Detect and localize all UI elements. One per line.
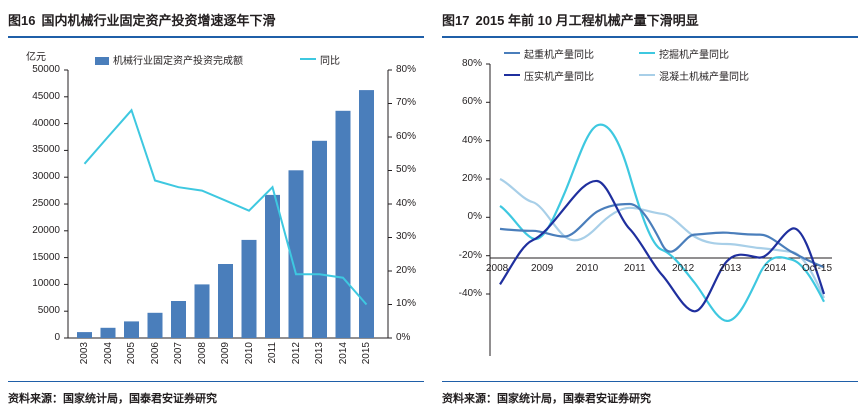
figure-16-plot: 0 5000 10000 15000 20000 25000 30000 350… — [0, 60, 434, 360]
figure-17-xtick-2012: 2012 — [672, 263, 694, 274]
figure-17-panel: 图172015 年前 10 月工程机械产量下滑明显 起重机产量同比 挖掘机产量同… — [434, 0, 868, 418]
figure-17-ytick-neg20: -20% — [444, 250, 482, 261]
legend-line-excavator — [639, 52, 655, 54]
figure-17-source-rule — [442, 381, 858, 382]
figure-16-ytick-10: 50000 — [18, 64, 60, 75]
figure-16-title-text: 国内机械行业固定资产投资增速逐年下滑 — [41, 10, 275, 29]
figure-17-ytick-0: 0% — [444, 211, 482, 222]
figure-16-xtick-2005: 2005 — [126, 342, 137, 364]
figure-17-ytick-40: 40% — [444, 135, 482, 146]
figure-16-y2tick-6: 60% — [396, 131, 416, 142]
figure-16-y2tick-3: 30% — [396, 231, 416, 242]
figure-16-xtick-2006: 2006 — [150, 342, 161, 364]
figure-17-xtick-oct15: Oct-15 — [802, 263, 832, 274]
figure-16-title: 图16国内机械行业固定资产投资增速逐年下滑 — [8, 10, 424, 36]
figure-16-y2tick-0: 0% — [396, 332, 410, 343]
figure-17-ytick-60: 60% — [444, 96, 482, 107]
figure-16-y2tick-1: 10% — [396, 298, 416, 309]
figure-17-xtick-2009: 2009 — [531, 263, 553, 274]
line-series-excavator — [500, 125, 824, 321]
figure-16-y2tick-7: 70% — [396, 97, 416, 108]
figure-16-ytick-3: 15000 — [18, 252, 60, 263]
figure-16-xtick-2015: 2015 — [361, 342, 372, 364]
figure-16-xtick-2003: 2003 — [79, 342, 90, 364]
figure-16-y2tick-4: 40% — [396, 198, 416, 209]
figure-16-xtick-2007: 2007 — [173, 342, 184, 364]
figure-16-title-tag: 图16 — [8, 10, 35, 29]
figure-16-ytick-8: 40000 — [18, 118, 60, 129]
figure-16-ytick-2: 10000 — [18, 278, 60, 289]
figure-16-panel: 图16国内机械行业固定资产投资增速逐年下滑 亿元 机械行业固定资产投资完成额 同… — [0, 0, 434, 418]
figure-16-ytick-0: 0 — [18, 332, 60, 343]
figure-16-ytick-6: 30000 — [18, 171, 60, 182]
figure-17-ytick-20: 20% — [444, 173, 482, 184]
figure-17-xtick-2011: 2011 — [624, 263, 646, 274]
figure-16-xtick-2011: 2011 — [267, 342, 278, 364]
page-root: 图16国内机械行业固定资产投资增速逐年下滑 亿元 机械行业固定资产投资完成额 同… — [0, 0, 868, 418]
figure-16-source-rule — [8, 381, 424, 382]
figure-16-xtick-2009: 2009 — [220, 342, 231, 364]
figure-17-title-tag: 图17 — [442, 10, 469, 29]
figure-16-xtick-2004: 2004 — [103, 342, 114, 364]
figure-16-xtick-2013: 2013 — [314, 342, 325, 364]
figure-17-plot: 80% 60% 40% 20% 0% -20% -40% 2008 2009 2… — [434, 58, 868, 358]
figure-17-title-text: 2015 年前 10 月工程机械产量下滑明显 — [475, 10, 698, 29]
figure-17-xtick-2014: 2014 — [764, 263, 786, 274]
figure-16-y2tick-2: 20% — [396, 265, 416, 276]
figure-16-source: 资料来源：国家统计局，国泰君安证券研究 — [8, 390, 217, 406]
figure-16-ytick-1: 5000 — [18, 305, 60, 316]
figure-16-xtick-2012: 2012 — [291, 342, 302, 364]
figure-17-svg — [434, 58, 868, 358]
legend-line-crane — [504, 52, 520, 54]
figure-17-xtick-2013: 2013 — [719, 263, 741, 274]
figure-16-xtick-2008: 2008 — [197, 342, 208, 364]
figure-16-xtick-2014: 2014 — [338, 342, 349, 364]
bar-series-investment — [77, 90, 374, 338]
figure-16-ytick-4: 20000 — [18, 225, 60, 236]
figure-17-title: 图172015 年前 10 月工程机械产量下滑明显 — [442, 10, 858, 36]
figure-17-ytick-neg40: -40% — [444, 288, 482, 299]
figure-17-xtick-2008: 2008 — [486, 263, 508, 274]
figure-16-ytick-7: 35000 — [18, 144, 60, 155]
figure-16-svg — [0, 60, 434, 360]
figure-16-title-rule — [8, 36, 424, 38]
figure-17-ytick-80: 80% — [444, 58, 482, 69]
line-series-concrete — [500, 179, 824, 298]
figure-16-y2tick-5: 50% — [396, 164, 416, 175]
figure-16-ytick-5: 25000 — [18, 198, 60, 209]
figure-16-ytick-9: 45000 — [18, 91, 60, 102]
figure-17-xtick-2010: 2010 — [576, 263, 598, 274]
figure-17-title-rule — [442, 36, 858, 38]
figure-17-source: 资料来源：国家统计局，国泰君安证券研究 — [442, 390, 651, 406]
figure-16-y2tick-8: 80% — [396, 64, 416, 75]
figure-16-xtick-2010: 2010 — [244, 342, 255, 364]
